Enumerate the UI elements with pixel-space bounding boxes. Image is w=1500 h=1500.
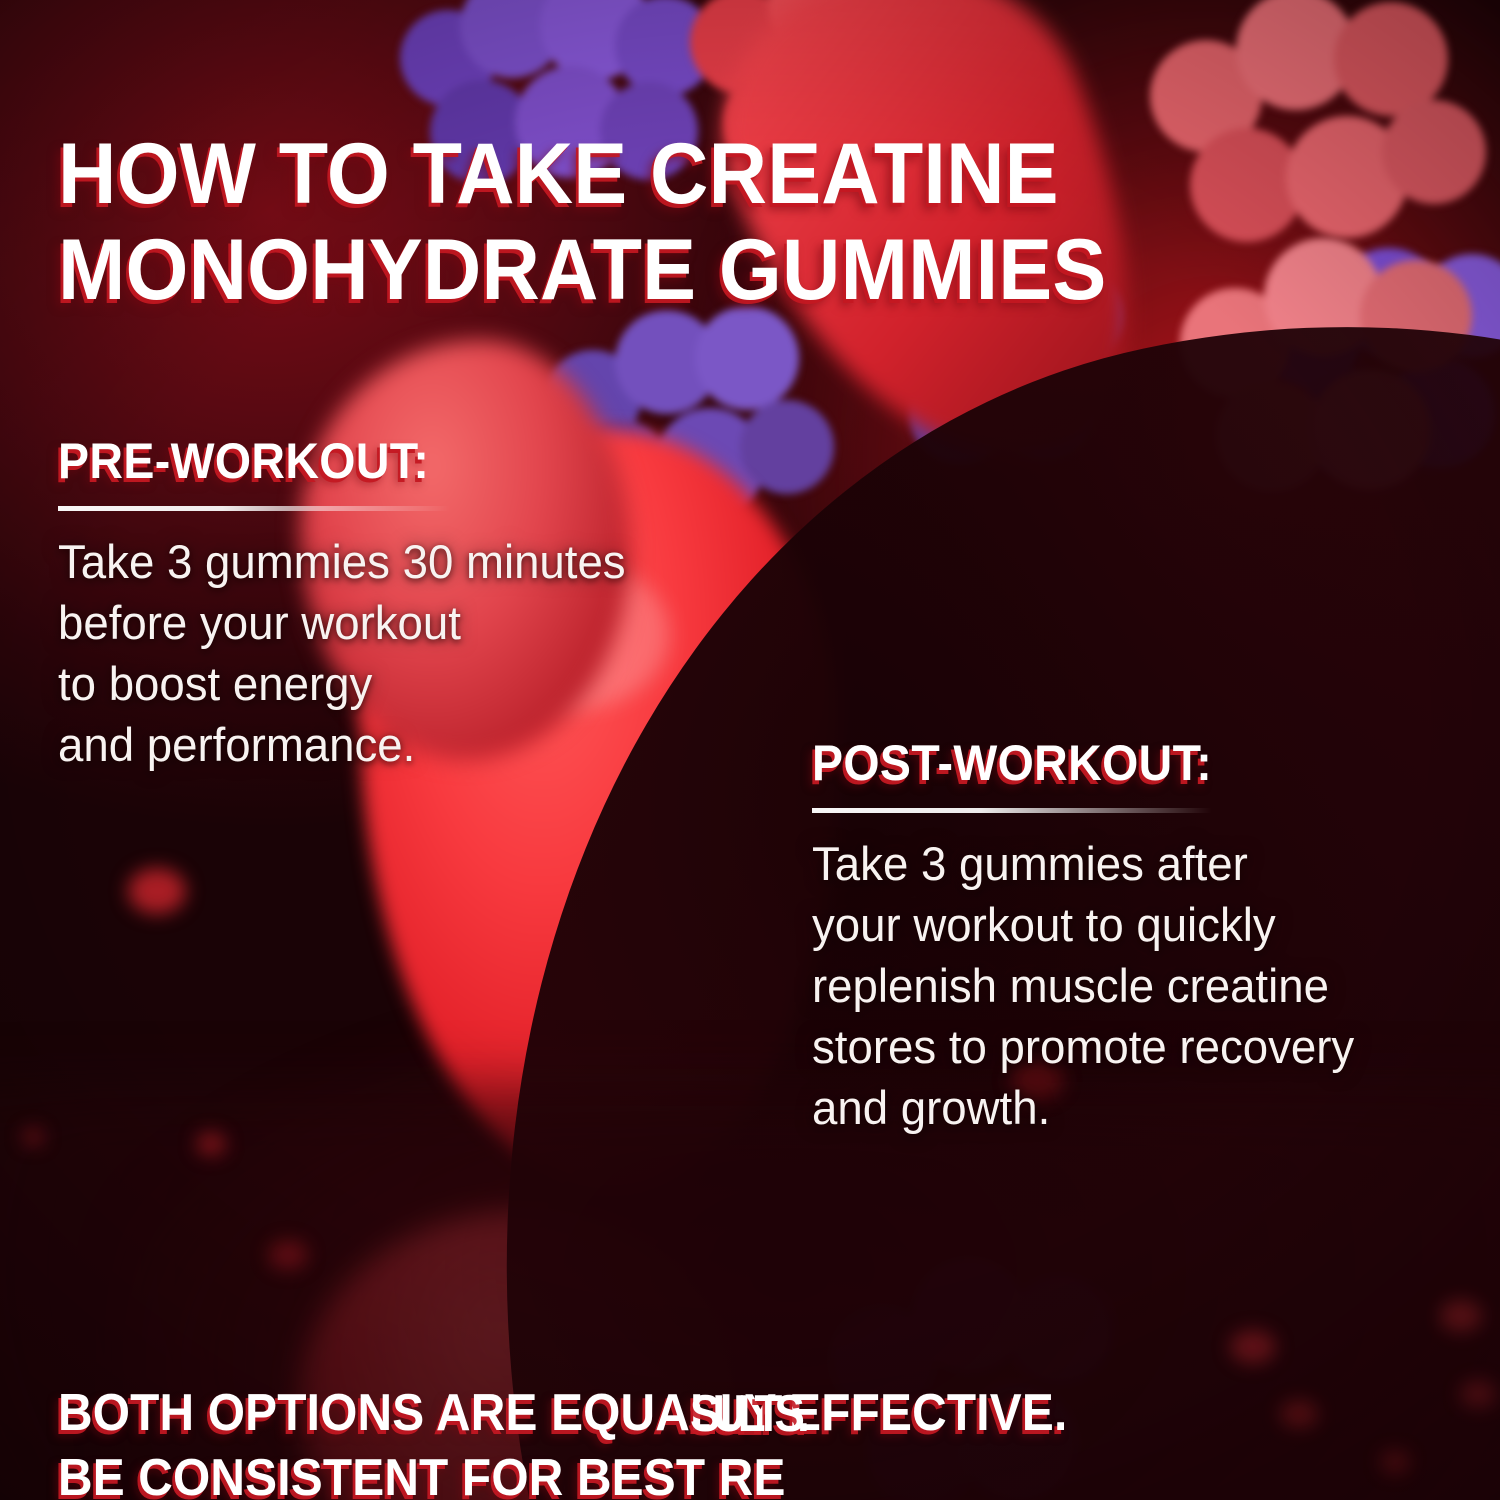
page-title: HOW TO TAKE CREATINE MONOHYDRATE GUMMIES [58, 126, 1374, 319]
pre-workout-divider [58, 506, 450, 511]
post-workout-body: Take 3 gummies after your workout to qui… [812, 833, 1472, 1138]
footer-glitch-text: SULTS. [690, 1384, 802, 1444]
page-title-line2: MONOHYDRATE GUMMIES [58, 222, 1374, 318]
creatine-gummies-infographic: HOW TO TAKE CREATINE MONOHYDRATE GUMMIES… [0, 0, 1500, 1500]
pre-workout-body: Take 3 gummies 30 minutes before your wo… [58, 531, 737, 775]
section-post-workout: POST-WORKOUT: Take 3 gummies after your … [812, 734, 1492, 1138]
post-workout-heading: POST-WORKOUT: [812, 734, 1444, 792]
footer-line-2: BE CONSISTENT FOR BEST RE [58, 1446, 1364, 1500]
pre-workout-heading: PRE-WORKOUT: [58, 432, 709, 490]
section-pre-workout: PRE-WORKOUT: Take 3 gummies 30 minutes b… [58, 432, 758, 775]
footer-line-1: BOTH OPTIONS ARE EQUALLY EFFECTIVE. [58, 1384, 1067, 1442]
page-title-line1: HOW TO TAKE CREATINE [58, 126, 1059, 222]
post-workout-divider [812, 808, 1212, 813]
